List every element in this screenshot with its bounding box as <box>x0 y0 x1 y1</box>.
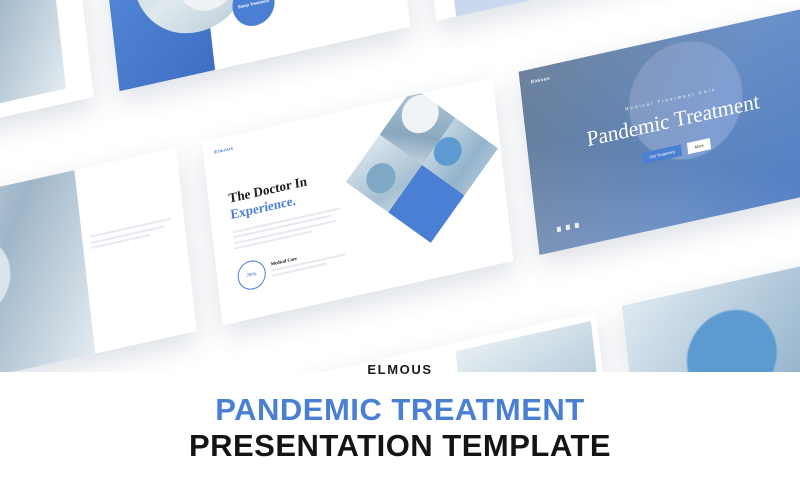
study-treatment-badge: Study Treatment <box>230 0 277 30</box>
branding-block: ELMOUS PANDEMIC TREATMENT PRESENTATION T… <box>0 362 800 464</box>
slide-photo <box>0 170 95 372</box>
instagram-icon[interactable] <box>575 222 580 228</box>
slide-doctor-experience[interactable]: Elmous The Doctor In Experience. 70% Med… <box>202 77 514 325</box>
facebook-icon[interactable] <box>557 226 562 232</box>
slide-pandemic-treatment-hero[interactable]: Elmous Medical Treatment Care Pandemic T… <box>519 7 800 255</box>
slide-filler-a[interactable] <box>622 241 800 372</box>
twitter-icon[interactable] <box>566 224 571 230</box>
slide-imac-mockup[interactable]: Elmous <box>415 0 727 21</box>
slide-photo <box>0 0 66 122</box>
page-title-primary: PANDEMIC TREATMENT <box>0 393 800 428</box>
body-lines <box>90 217 176 252</box>
slide-visionary[interactable]: Elmous In Visionary. Medicine Lorem ipsu… <box>0 0 94 161</box>
slide-grid: Elmous In Visionary. Medicine Lorem ipsu… <box>0 0 800 372</box>
brand-name: ELMOUS <box>0 362 800 377</box>
slide-identifying-virus[interactable]: Elmous Study Treatment Identifying About… <box>99 0 411 91</box>
slide-photo <box>622 241 800 372</box>
slide-nurse-edge[interactable] <box>0 148 197 372</box>
page-title-secondary: PRESENTATION TEMPLATE <box>0 429 800 464</box>
slide-mockup-stage: Elmous In Visionary. Medicine Lorem ipsu… <box>0 0 800 372</box>
slide-logo: Elmous <box>214 145 234 154</box>
laptop-mockup <box>452 0 606 19</box>
stat-ring: 70% <box>236 258 267 293</box>
